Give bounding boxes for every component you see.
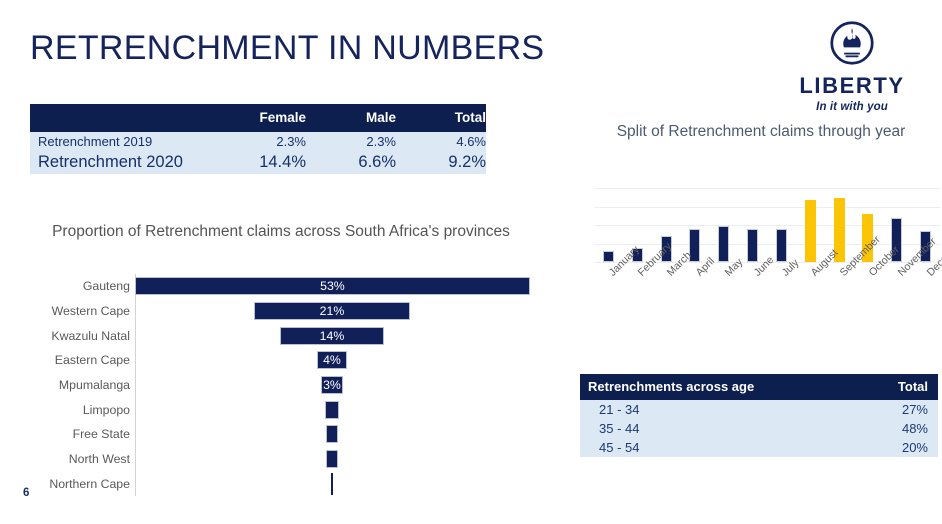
cell-2020-total: 9.2% [396,151,486,174]
province-bar-label: Gauteng [0,279,130,293]
column-header-male: Male [306,104,396,132]
province-bar-label: Eastern Cape [0,353,130,367]
month-bar [603,251,614,262]
page-title: RETRENCHMENT IN NUMBERS [30,29,544,68]
table-row: Retrenchment 2020 14.4% 6.6% 9.2% [30,151,486,174]
row-label-2020: Retrenchment 2020 [30,151,216,174]
age-total-cell: 48% [759,419,938,438]
province-bar [331,473,333,495]
age-range-cell: 45 - 54 [580,438,759,457]
page-number: 6 [23,487,29,499]
province-bar [325,401,340,419]
month-label-cell: April [680,264,709,314]
province-bar [326,425,337,443]
province-bar: 4% [317,351,347,369]
month-label-cell: October [853,264,882,314]
table-header-row: Female Male Total [30,104,486,132]
province-bar-row: Kwazulu Natal14% [20,323,540,348]
cell-2020-female: 14.4% [216,151,306,174]
province-bar-value: 21% [320,305,345,317]
column-header-total: Total [396,104,486,132]
province-bar-row: Northern Cape [20,472,540,497]
table-row: 45 - 5420% [580,438,938,457]
province-bar-label: Northern Cape [0,477,130,491]
province-bar-row: North West [20,447,540,472]
month-label-cell: December [911,264,940,314]
province-bar-label: Free State [0,427,130,441]
province-bar [326,450,337,468]
month-chart-title: Split of Retrenchment claims through yea… [600,122,922,143]
retrenchment-age-table: Retrenchments across age Total 21 - 3427… [580,374,938,457]
province-bar-value: 53% [320,280,345,292]
province-bar-label: North West [0,452,130,466]
age-range-cell: 21 - 34 [580,400,759,419]
month-chart-axis-labels: JanuaryFebruaryMarchAprilMayJuneJulyAugu… [594,264,940,314]
province-bar: 14% [280,327,384,345]
column-header-age-total: Total [759,374,938,400]
province-bar-row: Limpopo [20,397,540,422]
province-bar-value: 3% [323,379,341,391]
age-total-cell: 20% [759,438,938,457]
month-bar [776,229,787,262]
column-header-blank [30,104,216,132]
cell-2019-female: 2.3% [216,132,306,151]
province-bar-label: Kwazulu Natal [0,329,130,343]
month-label-cell: March [652,264,681,314]
province-chart-plot-area: Gauteng53%Western Cape21%Kwazulu Natal14… [20,274,540,496]
month-label-cell: February [623,264,652,314]
table-row: 35 - 4448% [580,419,938,438]
month-bar-column [796,188,825,262]
month-bar-column [594,188,623,262]
liberty-logo: LIBERTY In it with you [793,20,911,113]
province-bar: 21% [254,302,410,320]
liberty-flame-icon [829,20,875,66]
row-label-2019: Retrenchment 2019 [30,132,216,151]
province-bar-value: 4% [323,354,341,366]
month-label-cell: May [709,264,738,314]
month-label-cell: July [767,264,796,314]
month-bar [718,226,729,262]
age-range-cell: 35 - 44 [580,419,759,438]
column-header-age: Retrenchments across age [580,374,759,400]
province-chart-title: Proportion of Retrenchment claims across… [46,222,516,242]
cell-2019-total: 4.6% [396,132,486,151]
province-bar-value: 14% [320,330,345,342]
province-bar-label: Western Cape [0,304,130,318]
monthly-split-chart: Split of Retrenchment claims through yea… [580,122,942,314]
province-bar-row: Mpumalanga3% [20,373,540,398]
column-header-female: Female [216,104,306,132]
month-label-cell: August [796,264,825,314]
table-header-row: Retrenchments across age Total [580,374,938,400]
month-bar-column [738,188,767,262]
month-label-cell: June [738,264,767,314]
province-bar: 3% [321,376,343,394]
liberty-tagline: In it with you [793,101,911,113]
province-bar-label: Mpumalanga [0,378,130,392]
province-bar-row: Eastern Cape4% [20,348,540,373]
province-bar: 53% [135,277,530,295]
month-label-cell: January [594,264,623,314]
cell-2019-male: 2.3% [306,132,396,151]
cell-2020-male: 6.6% [306,151,396,174]
month-bar-column [767,188,796,262]
province-bar-row: Gauteng53% [20,274,540,299]
slide-canvas: RETRENCHMENT IN NUMBERS Female Male Tota… [0,0,942,524]
month-label-cell: September [825,264,854,314]
table-row: 21 - 3427% [580,400,938,419]
province-bar-row: Free State [20,422,540,447]
month-label-cell: November [882,264,911,314]
month-bar [747,229,758,262]
age-table-body: 21 - 3427%35 - 4448%45 - 5420% [580,400,938,457]
month-bar [805,200,816,262]
province-bar-row: Western Cape21% [20,299,540,324]
table-row: Retrenchment 2019 2.3% 2.3% 4.6% [30,132,486,151]
liberty-wordmark: LIBERTY [793,73,911,99]
retrenchment-gender-table: Female Male Total Retrenchment 2019 2.3%… [30,104,486,174]
age-total-cell: 27% [759,400,938,419]
month-bar-column [709,188,738,262]
province-bar-label: Limpopo [0,403,130,417]
province-proportion-chart: Proportion of Retrenchment claims across… [20,222,540,500]
